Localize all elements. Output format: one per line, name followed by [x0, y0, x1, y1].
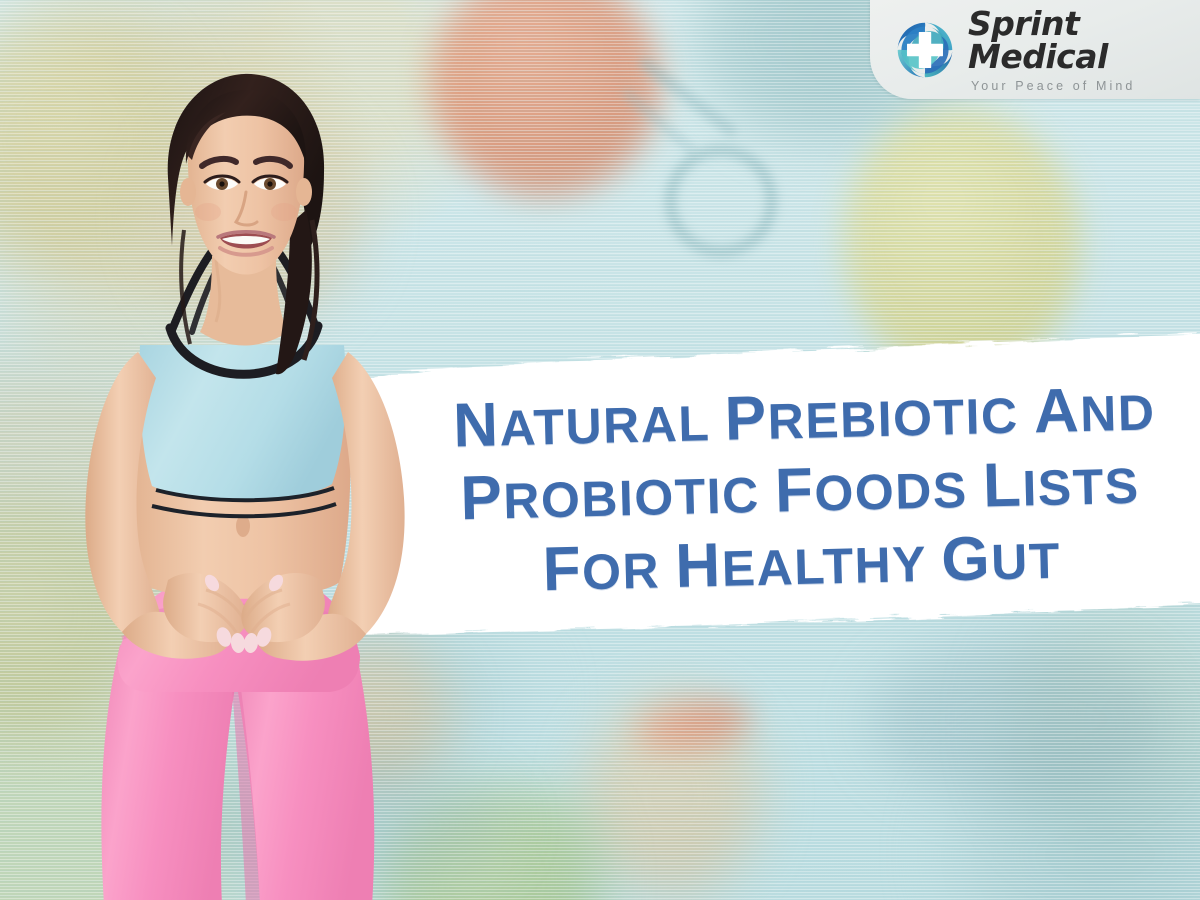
model-photo — [60, 60, 460, 900]
page-title: NATURAL PREBIOTIC AND PROBIOTIC FOODS LI… — [452, 375, 1147, 611]
promo-banner-image: NATURAL PREBIOTIC AND PROBIOTIC FOODS LI… — [0, 0, 1200, 900]
title-text: REBIOTIC — [767, 387, 1035, 449]
title-text: P — [460, 463, 505, 533]
medical-cross-swirl-icon — [894, 19, 956, 81]
title-text: L — [982, 451, 1023, 521]
title-text: OODS — [814, 462, 984, 522]
title-text: H — [675, 531, 723, 601]
title-text: OR — [581, 542, 676, 600]
bg-ring-shape — [665, 145, 777, 257]
title-text: F — [774, 456, 815, 526]
title-text: EALTHY — [721, 536, 942, 597]
brand-logo-badge[interactable]: Sprint Medical Your Peace of Mind — [870, 0, 1200, 99]
title-text: ATURAL — [499, 395, 726, 456]
title-text: F — [542, 534, 583, 604]
title-text: A — [1033, 376, 1081, 446]
brand-name: Sprint Medical — [968, 7, 1200, 73]
title-text: UT — [991, 533, 1062, 591]
title-text: ISTS — [1022, 458, 1140, 517]
brand-tagline: Your Peace of Mind — [968, 80, 1200, 93]
title-text: ROBIOTIC — [503, 467, 776, 530]
title-text: G — [941, 524, 992, 594]
title-text: P — [724, 384, 769, 454]
bg-shadow — [870, 640, 1170, 800]
title-text: ND — [1080, 384, 1157, 442]
